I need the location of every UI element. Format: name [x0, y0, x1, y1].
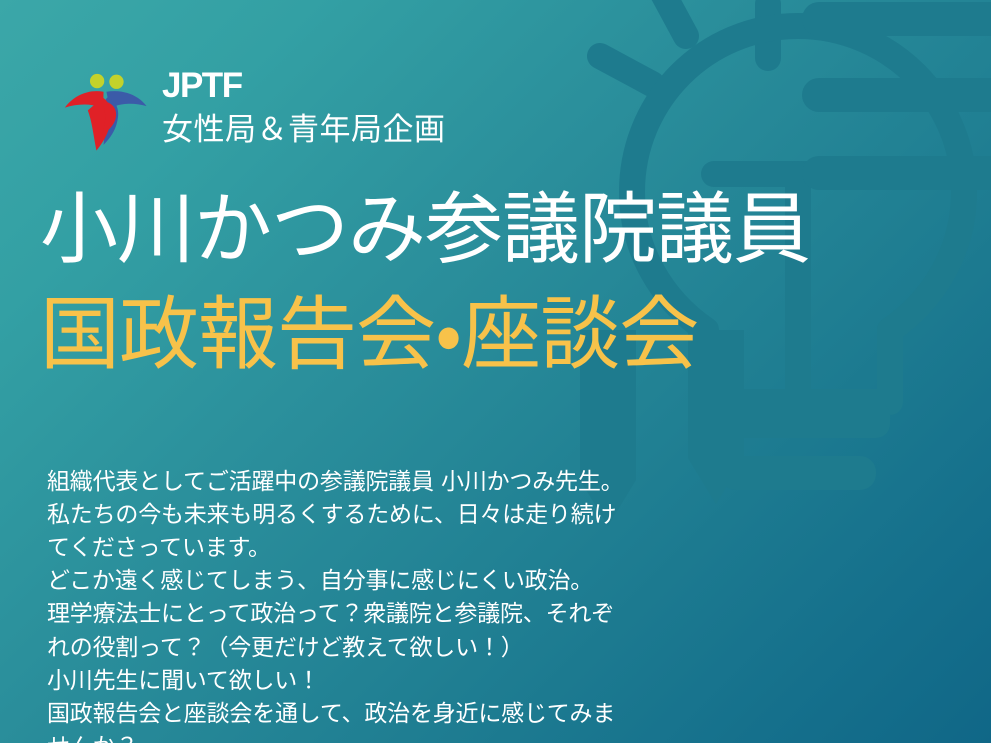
- body-copy-line: れの役割って？（今更だけど教えて欲しい！）: [47, 632, 747, 665]
- body-copy-line: 私たちの今も未来も明るくするために、日々は走り続け: [47, 499, 747, 532]
- headline-block: 小川かつみ参議院議員 国政報告会・座談会: [40, 188, 970, 380]
- body-copy-line: 国政報告会と座談会を通して、政治を身近に感じてみま: [47, 698, 747, 731]
- body-copy-line: どこか遠く感じてしまう、自分事に感じにくい政治。: [47, 565, 747, 598]
- body-copy-line: 組織代表としてご活躍中の参議院議員 小川かつみ先生。: [47, 466, 747, 499]
- poster-canvas: JPTF 女性局＆青年局企画 小川かつみ参議院議員 国政報告会・座談会 組織代表…: [0, 0, 991, 743]
- brand-subtitle: 女性局＆青年局企画: [162, 114, 446, 147]
- body-copy-line: せんか？: [47, 731, 747, 743]
- jptf-logo-icon: [62, 66, 148, 152]
- body-copy-line: 小川先生に聞いて欲しい！: [47, 665, 747, 698]
- brand-header: JPTF 女性局＆青年局企画: [62, 62, 446, 152]
- body-copy-block: 組織代表としてご活躍中の参議院議員 小川かつみ先生。私たちの今も未来も明るくする…: [47, 466, 747, 743]
- brand-name: JPTF: [162, 68, 446, 103]
- headline-accent-title: 国政報告会・座談会: [40, 290, 970, 380]
- brand-text-block: JPTF 女性局＆青年局企画: [162, 62, 446, 147]
- body-copy-line: てくださっています。: [47, 532, 747, 565]
- body-copy-line: 理学療法士にとって政治って？衆議院と参議院、それぞ: [47, 598, 747, 631]
- headline-main-title: 小川かつみ参議院議員: [40, 188, 970, 272]
